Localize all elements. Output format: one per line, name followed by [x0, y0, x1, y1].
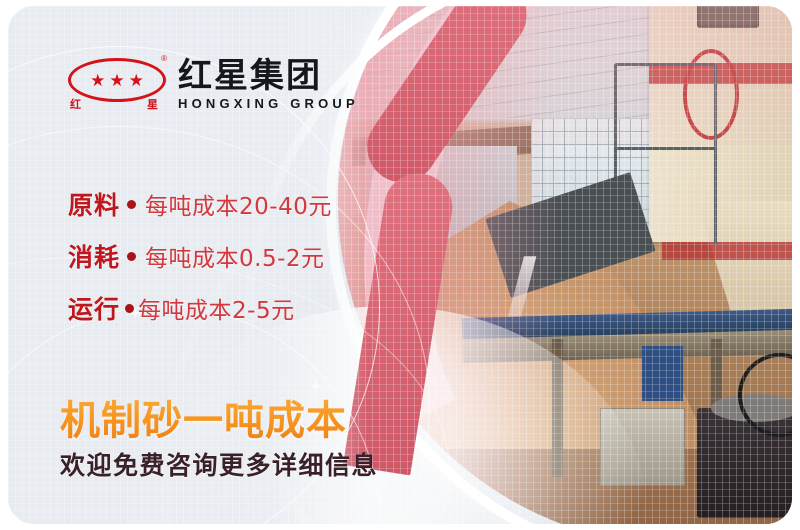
logo-subtext: 红 星 — [70, 96, 158, 112]
spec-value: 每吨成本20-40元 — [145, 187, 332, 221]
spec-label: 消耗 — [68, 238, 120, 274]
star-icon: ★ — [109, 72, 124, 89]
logo-subtext-right: 星 — [147, 96, 158, 112]
list-item: 运行 每吨成本2-5元 — [68, 282, 378, 334]
logo-wordmark: 红星集团 HONGXING GROUP — [178, 59, 359, 111]
list-item: 原料 每吨成本20-40元 — [68, 178, 378, 230]
promotional-banner: ★ ★ ★ ® 红 星 红星集团 HONGXING GROUP 原料 每吨成本2 — [0, 0, 800, 530]
company-name-en: HONGXING GROUP — [178, 96, 359, 111]
hongxing-star-emblem-icon: ★ ★ ★ ® 红 星 — [68, 56, 166, 114]
banner-canvas: ★ ★ ★ ® 红 星 红星集团 HONGXING GROUP 原料 每吨成本2 — [8, 6, 792, 524]
logo-subtext-left: 红 — [70, 96, 81, 112]
spec-value: 每吨成本2-5元 — [138, 291, 295, 325]
bullet-dot-icon — [127, 200, 136, 209]
spec-label: 原料 — [68, 186, 120, 222]
star-icon: ★ — [129, 72, 144, 89]
company-name-cn: 红星集团 — [178, 59, 359, 95]
list-item: 消耗 每吨成本0.5-2元 — [68, 230, 378, 282]
page-title: 机制砂一吨成本 — [60, 388, 347, 446]
bullet-dot-icon — [127, 252, 136, 261]
spec-value: 每吨成本0.5-2元 — [145, 239, 325, 273]
company-logo[interactable]: ★ ★ ★ ® 红 星 红星集团 HONGXING GROUP — [68, 56, 359, 114]
registered-trademark-icon: ® — [161, 54, 167, 63]
page-subtitle: 欢迎免费咨询更多详细信息 — [60, 446, 378, 482]
bullet-dot-icon — [125, 304, 134, 313]
star-icon: ★ — [90, 72, 105, 89]
spec-label: 运行 — [68, 290, 120, 326]
cost-spec-list: 原料 每吨成本20-40元 消耗 每吨成本0.5-2元 运行 每吨成本2-5元 — [68, 178, 378, 334]
